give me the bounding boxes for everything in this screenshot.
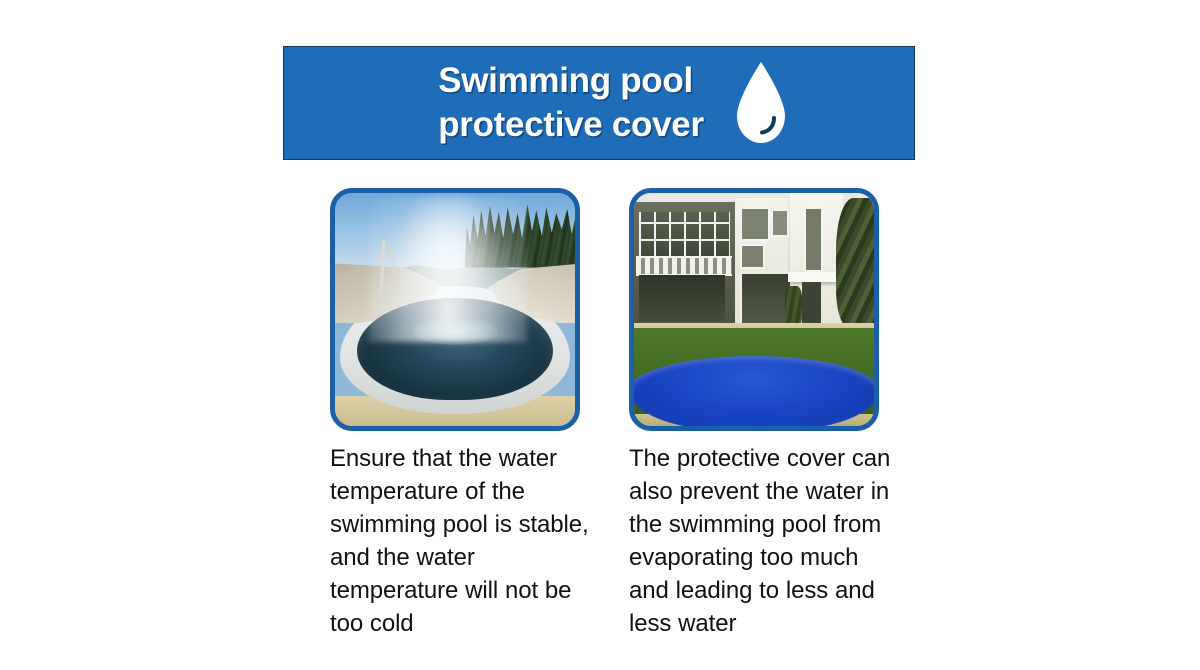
blue-pool-cover bbox=[634, 356, 874, 426]
caption-left: Ensure that the water temperature of the… bbox=[330, 442, 592, 640]
pool-cover-photo-scene bbox=[634, 193, 874, 426]
feature-panel-left: Ensure that the water temperature of the… bbox=[330, 188, 580, 640]
window-upper-right bbox=[771, 209, 789, 236]
tall-window bbox=[804, 207, 822, 272]
steam-plume-upper bbox=[397, 193, 498, 286]
header-banner: Swimming pool protective cover bbox=[283, 46, 915, 160]
caption-right: The protective cover can also prevent th… bbox=[629, 442, 891, 640]
banner-content: Swimming pool protective cover bbox=[438, 59, 792, 147]
window-grid bbox=[639, 212, 730, 259]
hot-spring-photo-scene bbox=[335, 193, 575, 426]
feature-panel-right: The protective cover can also prevent th… bbox=[629, 188, 879, 640]
shrub-right bbox=[836, 198, 874, 328]
page-title: Swimming pool protective cover bbox=[438, 59, 704, 147]
entry-door bbox=[802, 282, 821, 324]
window-middle bbox=[740, 244, 766, 269]
balcony-railing bbox=[636, 256, 732, 276]
water-droplet-icon bbox=[730, 60, 792, 146]
pool-cover-photo bbox=[629, 188, 879, 431]
shrub-middle bbox=[785, 286, 802, 328]
window-upper-left bbox=[740, 207, 770, 241]
hot-spring-photo bbox=[330, 188, 580, 431]
garage-opening bbox=[740, 272, 792, 327]
lower-glass-bay bbox=[639, 275, 725, 322]
